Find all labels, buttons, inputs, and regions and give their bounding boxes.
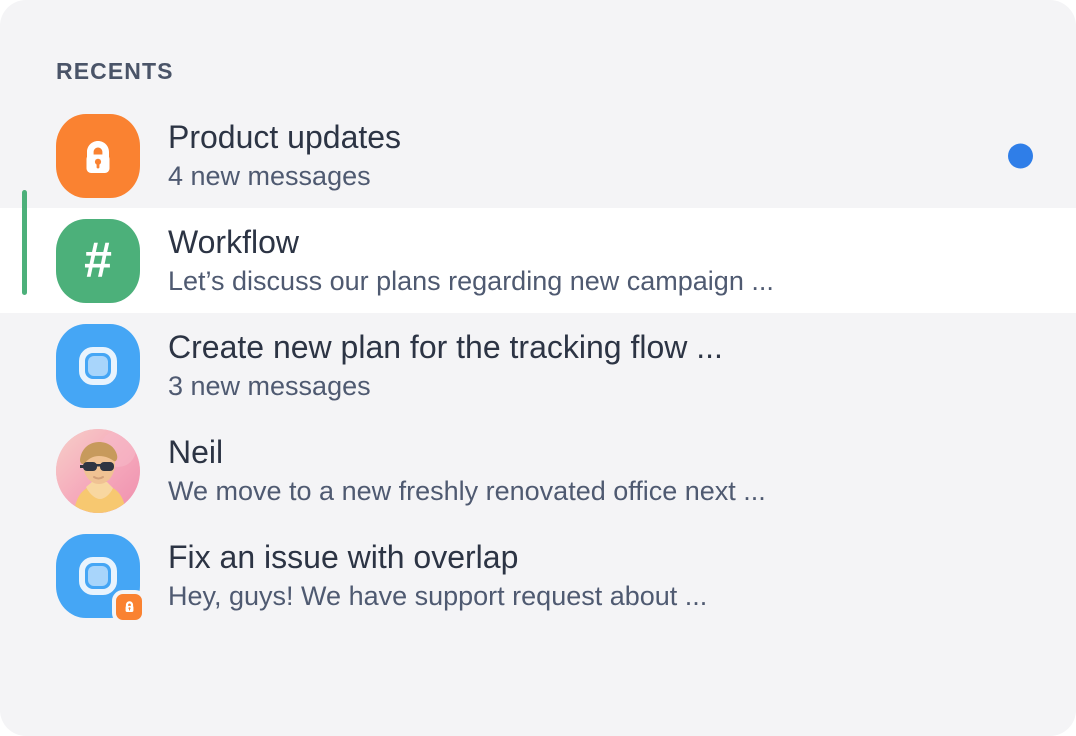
list-item-title: Product updates xyxy=(168,119,401,156)
list-item-title: Workflow xyxy=(168,224,774,261)
list-item-subtitle: 4 new messages xyxy=(168,161,401,192)
list-item-texts: Fix an issue with overlap Hey, guys! We … xyxy=(168,539,707,612)
list-item-subtitle: Hey, guys! We have support request about… xyxy=(168,581,707,612)
list-item-title: Create new plan for the tracking flow ..… xyxy=(168,329,723,366)
avatar: # xyxy=(56,219,140,303)
list-item[interactable]: Neil We move to a new freshly renovated … xyxy=(0,418,1076,523)
user-photo-avatar xyxy=(56,429,140,513)
avatar xyxy=(56,324,140,408)
list-item-subtitle: We move to a new freshly renovated offic… xyxy=(168,476,766,507)
unread-dot xyxy=(1008,143,1033,168)
list-item[interactable]: # Workflow Let’s discuss our plans regar… xyxy=(0,208,1076,313)
list-item-texts: Product updates 4 new messages xyxy=(168,119,401,192)
list-item-texts: Create new plan for the tracking flow ..… xyxy=(168,329,723,402)
list-item[interactable]: Create new plan for the tracking flow ..… xyxy=(0,313,1076,418)
recents-card: RECENTS Product updates 4 new messages xyxy=(0,0,1076,736)
rounded-square-icon xyxy=(56,324,140,408)
list-item-title: Fix an issue with overlap xyxy=(168,539,707,576)
list-item-texts: Workflow Let’s discuss our plans regardi… xyxy=(168,224,774,297)
active-accent-bar xyxy=(22,190,27,295)
section-heading-recents: RECENTS xyxy=(56,58,174,85)
list-item-title: Neil xyxy=(168,434,766,471)
avatar xyxy=(56,534,140,618)
list-item[interactable]: Product updates 4 new messages xyxy=(0,103,1076,208)
list-item-texts: Neil We move to a new freshly renovated … xyxy=(168,434,766,507)
lock-badge-icon xyxy=(112,590,146,624)
list-item-subtitle: 3 new messages xyxy=(168,371,723,402)
hash-icon: # xyxy=(56,219,140,303)
list-item-subtitle: Let’s discuss our plans regarding new ca… xyxy=(168,266,774,297)
avatar xyxy=(56,429,140,513)
avatar xyxy=(56,114,140,198)
hash-glyph: # xyxy=(84,235,112,285)
lock-icon xyxy=(56,114,140,198)
recents-list: Product updates 4 new messages # Workflo… xyxy=(0,103,1076,628)
list-item[interactable]: Fix an issue with overlap Hey, guys! We … xyxy=(0,523,1076,628)
